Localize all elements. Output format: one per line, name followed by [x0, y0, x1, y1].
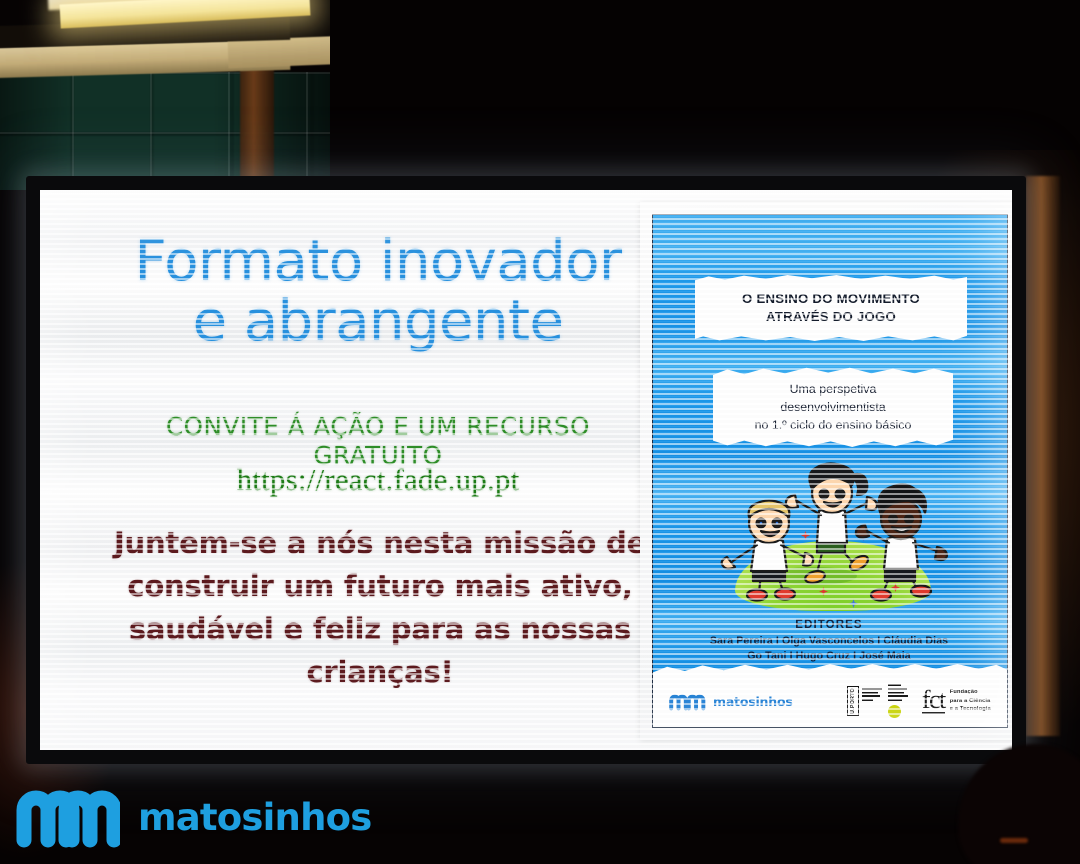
screenshot-stage: Formato inovador e abrangente CONVITE Á … — [0, 0, 1080, 864]
matosinhos-brand-overlay: matosinhos — [16, 786, 371, 848]
book-title-line-1: O ENSINO DO MOVIMENTO — [742, 290, 920, 308]
book-sponsor-logos: matosinhos U.PORTO — [653, 679, 1007, 723]
research-centre-text-lines — [888, 684, 908, 700]
cta-line-3: saudável e feliz para as nossas — [112, 608, 648, 651]
up-porto-label: U.PORTO — [850, 688, 856, 714]
fct-logo: fct Fundação para a Ciência e a Tecnolog… — [922, 688, 991, 714]
fct-wordmark: fct — [922, 688, 945, 714]
book-subtitle-line-1: Uma perspetiva — [790, 380, 877, 398]
book-subtitle: Uma perspetiva desenvolvimentista no 1.º… — [713, 367, 953, 447]
presentation-slide: Formato inovador e abrangente CONVITE Á … — [40, 190, 1012, 750]
slide-url[interactable]: https://react.fade.up.pt — [98, 462, 658, 498]
matosinhos-mm-wave-icon — [16, 786, 120, 848]
cta-line-4: crianças! — [112, 651, 648, 694]
headline-line-1: Formato inovador — [134, 229, 621, 294]
research-centre-dot-icon — [888, 705, 901, 718]
book-subtitle-line-3: no 1.º ciclo do ensino básico — [755, 416, 912, 434]
book-cover-inner: O ENSINO DO MOVIMENTO ATRAVÉS DO JOGO Um… — [652, 214, 1008, 728]
editors-heading: EDITORES — [673, 619, 985, 631]
matosinhos-wordmark-cover: matosinhos — [713, 694, 793, 709]
matosinhos-mm-icon — [669, 691, 707, 711]
editors-row-1: Sara Pereira I Olga Vasconcelos I Cláudi… — [673, 634, 985, 649]
fct-subtitle-line-3: e a Tecnologia — [950, 705, 991, 714]
book-editors: EDITORES Sara Pereira I Olga Vasconcelos… — [673, 619, 985, 665]
cta-line-2: construir um futuro mais ativo, — [112, 565, 648, 608]
headline-line-2: e abrangente — [98, 292, 658, 352]
book-cover-image: O ENSINO DO MOVIMENTO ATRAVÉS DO JOGO Um… — [640, 202, 1012, 740]
matosinhos-logo-cover: matosinhos — [669, 691, 793, 711]
book-title-line-2: ATRAVÉS DO JOGO — [766, 308, 896, 326]
book-title: O ENSINO DO MOVIMENTO ATRAVÉS DO JOGO — [695, 275, 967, 341]
matosinhos-wordmark-overlay: matosinhos — [138, 796, 371, 839]
fct-subtitle-line-1: Fundação — [950, 688, 991, 697]
universidade-porto-logo: U.PORTO — [847, 686, 882, 716]
editors-row-2: Go Tani I Hugo Cruz I José Maia — [673, 649, 985, 664]
research-centre-logo — [888, 684, 908, 717]
up-porto-text-lines — [862, 686, 882, 701]
up-porto-mark: U.PORTO — [847, 686, 859, 716]
slide-headline: Formato inovador e abrangente — [98, 232, 658, 353]
book-subtitle-line-2: desenvolvimentista — [780, 398, 885, 416]
wooden-panel-right — [1026, 176, 1060, 736]
cta-line-1: Juntem-se a nós nesta missão de — [112, 522, 648, 565]
fct-subtitle-line-2: para a Ciência — [950, 697, 991, 706]
children-illustration-icon — [715, 461, 959, 611]
slide-call-to-action: Juntem-se a nós nesta missão de construi… — [112, 522, 648, 694]
fct-subtitle: Fundação para a Ciência e a Tecnologia — [950, 688, 991, 714]
audience-highlight — [1000, 838, 1028, 843]
